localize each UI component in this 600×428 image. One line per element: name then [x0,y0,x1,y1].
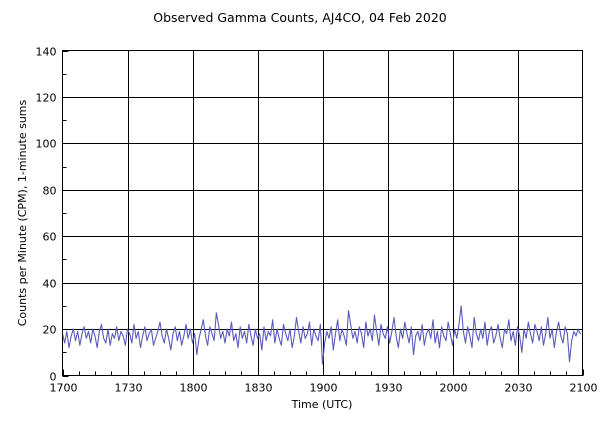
x-tick-label: 1930 [375,382,403,395]
chart-title: Observed Gamma Counts, AJ4CO, 04 Feb 202… [153,10,447,25]
series-line-0 [63,306,581,364]
y-axis-title: Counts per Minute (CPM), 1-minute sums [16,99,29,326]
x-tick-label: 1730 [115,382,143,395]
x-tick-label: 1830 [245,382,273,395]
x-tick-label: 1800 [180,382,208,395]
y-tick-label: 140 [36,46,57,59]
y-tick-label: 80 [43,185,57,198]
y-tick-label: 120 [36,92,57,105]
y-tick-label: 40 [43,278,57,291]
x-tick-label: 1900 [310,382,338,395]
x-tick-labels: 170017301800183019001930200020302100 [50,382,598,395]
x-tick-label: 2030 [505,382,533,395]
x-tick-label: 2100 [570,382,598,395]
y-tick-label: 60 [43,231,57,244]
x-axis-title: Time (UTC) [291,398,353,411]
gridlines [63,51,583,376]
data-series-layer [63,306,581,364]
y-tick-labels: 020406080100120140 [36,46,57,384]
plot-frame [63,51,583,376]
gamma-counts-chart: Observed Gamma Counts, AJ4CO, 04 Feb 202… [0,0,600,428]
y-tick-label: 100 [36,138,57,151]
chart-canvas: Observed Gamma Counts, AJ4CO, 04 Feb 202… [0,0,600,428]
x-tick-label: 2000 [440,382,468,395]
x-tick-label: 1700 [50,382,78,395]
y-tick-label: 20 [43,324,57,337]
